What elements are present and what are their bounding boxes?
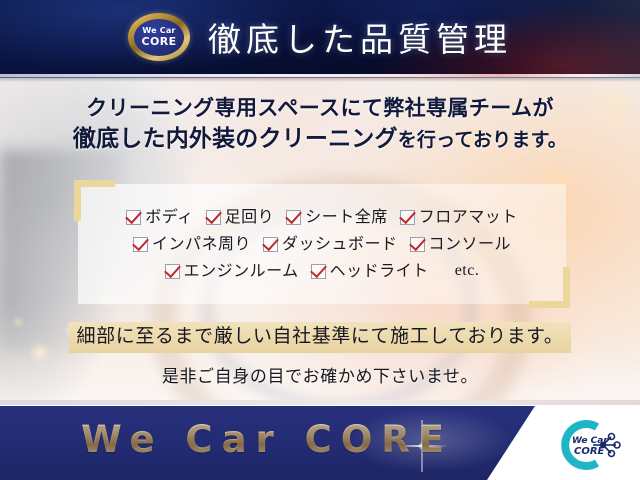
- footer-wordmark: We Car CORE: [52, 418, 482, 461]
- footer-logo-svg: We Car CORE: [548, 416, 622, 474]
- checklist-item[interactable]: 足回り: [206, 205, 275, 229]
- lead-line-2-tail: を行っております。: [398, 129, 567, 151]
- checklist-rows: ボディ足回りシート全席フロアマットインパネ周りダッシュボードコンソールエンジンル…: [78, 184, 566, 304]
- checkbox-checked-icon[interactable]: [311, 264, 326, 279]
- checkbox-checked-icon[interactable]: [165, 264, 180, 279]
- badge-inner-disc: We Car CORE: [134, 19, 184, 56]
- checklist-item[interactable]: フロアマット: [400, 205, 518, 229]
- checklist-item[interactable]: インパネ周り: [133, 232, 251, 256]
- badge-logo-line2: CORE: [141, 36, 176, 47]
- checkbox-checked-icon[interactable]: [410, 237, 425, 252]
- checkbox-checked-icon[interactable]: [126, 210, 141, 225]
- checklist-item[interactable]: ボディ: [126, 205, 193, 229]
- checklist-item[interactable]: ダッシュボード: [263, 232, 398, 256]
- header-content: We Car CORE 徹底した品質管理: [0, 0, 640, 74]
- checkbox-checked-icon[interactable]: [286, 210, 301, 225]
- sub-statement: 是非ご自身の目でお確かめ下さいませ。: [0, 362, 640, 387]
- checklist-row: インパネ周りダッシュボードコンソール: [78, 232, 566, 256]
- checklist-row: エンジンルームヘッドライトetc.: [78, 259, 566, 283]
- header-divider-shadow: [0, 77, 640, 78]
- checklist-item-label: フロアマット: [419, 205, 518, 229]
- checklist-item-label: シート全席: [305, 205, 388, 229]
- highlight-line-wrap: 細部に至るまで厳しい自社基準にて施工しております。: [0, 322, 640, 353]
- checklist-row: ボディ足回りシート全席フロアマット: [78, 205, 566, 229]
- checklist-item[interactable]: ヘッドライト: [311, 259, 429, 283]
- checklist-item-label: エンジンルーム: [184, 259, 299, 283]
- checklist-item-label: 足回り: [225, 205, 275, 229]
- checkbox-checked-icon[interactable]: [133, 237, 148, 252]
- lead-copy: クリーニング専用スペースにて弊社専属チームが 徹底した内外装のクリーニングを行っ…: [0, 96, 640, 154]
- checklist-item-label: ダッシュボード: [282, 232, 398, 256]
- checklist-etc-label: etc.: [455, 259, 480, 283]
- checklist-item-label: コンソール: [429, 232, 512, 256]
- checklist-item-label: ヘッドライト: [330, 259, 429, 283]
- checkbox-checked-icon[interactable]: [263, 237, 278, 252]
- checklist-item[interactable]: シート全席: [286, 205, 388, 229]
- checkbox-checked-icon[interactable]: [400, 210, 415, 225]
- highlight-statement: 細部に至るまで厳しい自社基準にて施工しております。: [69, 322, 572, 353]
- checklist-item-label: ボディ: [145, 205, 193, 229]
- footer-wecarcore-logo: We Car CORE: [548, 416, 622, 474]
- footer-logo-line1: We Car: [572, 436, 608, 446]
- page-title: 徹底した品質管理: [208, 13, 512, 61]
- lead-line-2: 徹底した内外装のクリーニングを行っております。: [0, 125, 640, 154]
- footer-top-divider: [0, 400, 640, 405]
- checklist-panel: ボディ足回りシート全席フロアマットインパネ周りダッシュボードコンソールエンジンル…: [78, 184, 566, 304]
- footer-logo-line2: CORE: [574, 446, 605, 457]
- promo-slide: We Car CORE 徹底した品質管理 クリーニング専用スペースにて弊社専属チ…: [0, 0, 640, 480]
- lead-line-2-strong: 徹底した内外装のクリーニング: [73, 125, 398, 152]
- wecarcore-badge-logo: We Car CORE: [128, 13, 190, 61]
- lead-line-1: クリーニング専用スペースにて弊社専属チームが: [0, 96, 640, 120]
- checkbox-checked-icon[interactable]: [206, 210, 221, 225]
- badge-logo-line1: We Car: [142, 27, 175, 35]
- checklist-item[interactable]: コンソール: [410, 232, 512, 256]
- checklist-item[interactable]: エンジンルーム: [165, 259, 299, 283]
- checklist-item-label: インパネ周り: [152, 232, 251, 256]
